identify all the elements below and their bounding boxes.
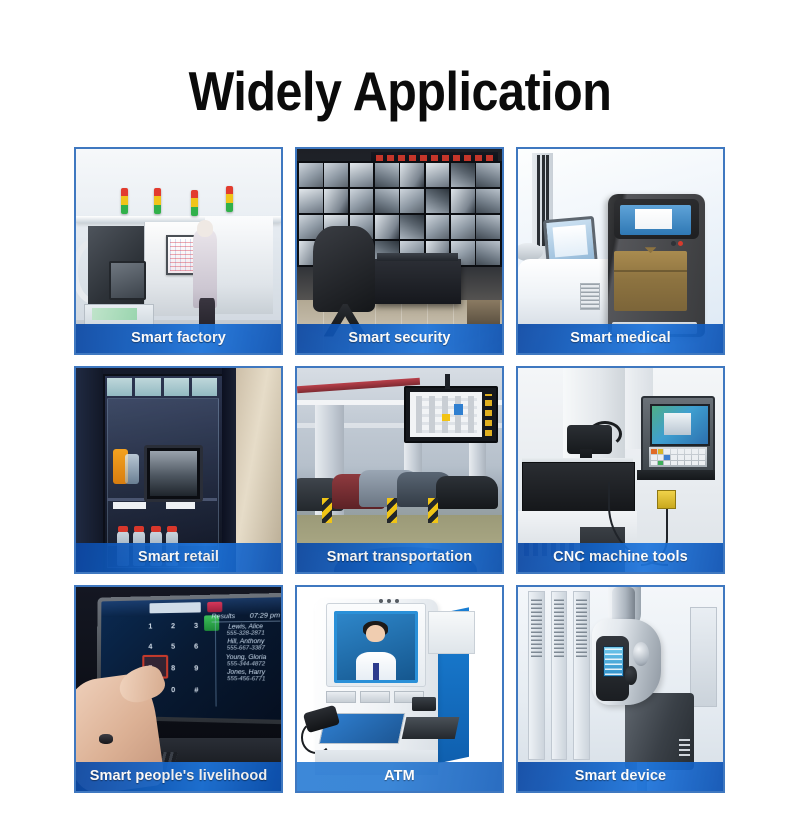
smart-security-photo <box>297 149 502 353</box>
atm-screen[interactable] <box>334 611 418 682</box>
application-card-smart-retail[interactable]: Smart retail <box>74 366 283 574</box>
application-card-smart-device[interactable]: Smart device <box>516 585 725 793</box>
application-card-label: CNC machine tools <box>518 543 723 572</box>
contact-list-item[interactable]: Young, Gloria 555-344-4872 <box>211 654 280 667</box>
cnc-control-panel <box>641 396 715 473</box>
dial-input-field[interactable] <box>149 602 200 613</box>
contact-list-item[interactable]: Jones, Harry 555-456-6771 <box>211 670 280 683</box>
contacts-results-list[interactable]: Results 07:29 pm Lewis, Alice 555-328-28… <box>211 612 281 715</box>
contact-list-item[interactable]: Lewis, Alice 555-328-2871 <box>211 623 280 636</box>
contact-number: 555-456-6771 <box>211 676 280 683</box>
dialpad-key[interactable]: 3 <box>184 615 207 637</box>
application-card-label: Smart retail <box>76 543 281 572</box>
cnc-machine-tools-photo <box>518 368 723 572</box>
application-card-smart-factory[interactable]: Smart factory <box>74 147 283 355</box>
application-card-cnc-machine-tools[interactable]: CNC machine tools <box>516 366 725 574</box>
application-card-label: ATM <box>297 762 502 791</box>
contact-list-item[interactable]: Hill, Anthony 555-667-3387 <box>211 639 280 652</box>
contact-number: 555-328-2871 <box>211 630 280 637</box>
clock-label: 07:29 pm <box>249 612 280 620</box>
dialpad-key[interactable]: 6 <box>184 637 207 658</box>
application-card-label: Smart transportation <box>297 543 502 572</box>
atm-photo <box>297 587 502 791</box>
application-card-label: Smart people's livelihood <box>76 762 281 791</box>
smart-peoples-livelihood-photo: 1 2 3 4 5 6 7 8 9 * 0 # <box>76 587 281 791</box>
application-card-smart-medical[interactable]: Smart medical <box>516 147 725 355</box>
application-card-label: Smart security <box>297 324 502 353</box>
page-title: Widely Application <box>48 37 752 119</box>
contact-number: 555-667-3387 <box>211 645 280 652</box>
smart-transportation-photo <box>297 368 502 572</box>
dialpad-key[interactable]: 2 <box>161 616 184 637</box>
application-card-smart-peoples-livelihood[interactable]: 1 2 3 4 5 6 7 8 9 * 0 # <box>74 585 283 793</box>
application-card-atm[interactable]: ATM <box>295 585 504 793</box>
smart-factory-photo <box>76 149 281 353</box>
application-card-label: Smart medical <box>518 324 723 353</box>
parking-guidance-screen <box>404 386 498 443</box>
application-card-label: Smart factory <box>76 324 281 353</box>
smart-device-photo <box>518 587 723 791</box>
smart-medical-photo <box>518 149 723 353</box>
smart-retail-photo <box>76 368 281 572</box>
dialpad-key[interactable]: 1 <box>139 616 161 637</box>
application-card-smart-security[interactable]: Smart security <box>295 147 504 355</box>
application-grid: Smart factory Smart security <box>74 147 724 793</box>
device-lcd-screen <box>603 646 623 677</box>
vending-display-screen <box>144 445 203 502</box>
contact-number: 555-344-4872 <box>211 661 280 668</box>
dialpad-key[interactable]: # <box>184 680 208 702</box>
ring <box>99 734 113 744</box>
application-card-label: Smart device <box>518 762 723 791</box>
results-title: Results <box>211 613 235 621</box>
dialpad-key[interactable]: 9 <box>184 658 208 680</box>
application-card-smart-transportation[interactable]: Smart transportation <box>295 366 504 574</box>
end-call-button[interactable] <box>207 602 222 613</box>
